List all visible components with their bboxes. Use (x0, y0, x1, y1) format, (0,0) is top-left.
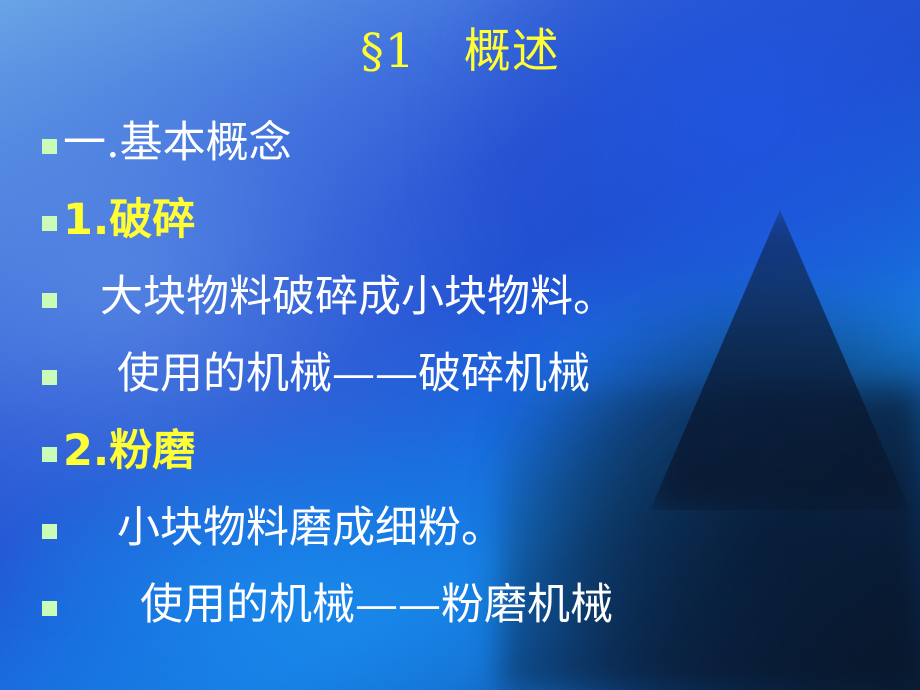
bullet-item: 小块物料磨成细粉。 (0, 503, 920, 580)
square-bullet (42, 370, 57, 385)
bullet-item-label: 使用的机械——破碎机械 (117, 349, 590, 396)
bullet-item-label: 小块物料磨成细粉。 (117, 503, 504, 550)
bullet-item-label: 使用的机械——粉磨机械 (140, 580, 613, 627)
bullet-item: 大块物料破碎成小块物料。 (0, 272, 920, 349)
bullet-item-label: 1.破碎 (63, 195, 195, 242)
bullet-item: 使用的机械——破碎机械 (0, 349, 920, 426)
square-bullet (42, 293, 57, 308)
square-bullet (42, 601, 57, 616)
square-bullet (42, 447, 57, 462)
square-bullet (42, 216, 57, 231)
square-bullet (42, 524, 57, 539)
bullet-item-label: 大块物料破碎成小块物料。 (100, 272, 616, 319)
bullet-item: 2.粉磨 (0, 426, 920, 503)
slide-bullet-list: 一.基本概念1.破碎大块物料破碎成小块物料。使用的机械——破碎机械2.粉磨小块物… (0, 118, 920, 657)
slide-title: §1 概述 (0, 24, 920, 79)
bullet-item: 1.破碎 (0, 195, 920, 272)
bullet-item-label: 一.基本概念 (63, 118, 292, 165)
presentation-slide: §1 概述 一.基本概念1.破碎大块物料破碎成小块物料。使用的机械——破碎机械2… (0, 0, 920, 690)
bullet-item-label: 2.粉磨 (63, 426, 195, 473)
bullet-item: 一.基本概念 (0, 118, 920, 195)
bullet-item: 使用的机械——粉磨机械 (0, 580, 920, 657)
square-bullet (42, 139, 57, 154)
